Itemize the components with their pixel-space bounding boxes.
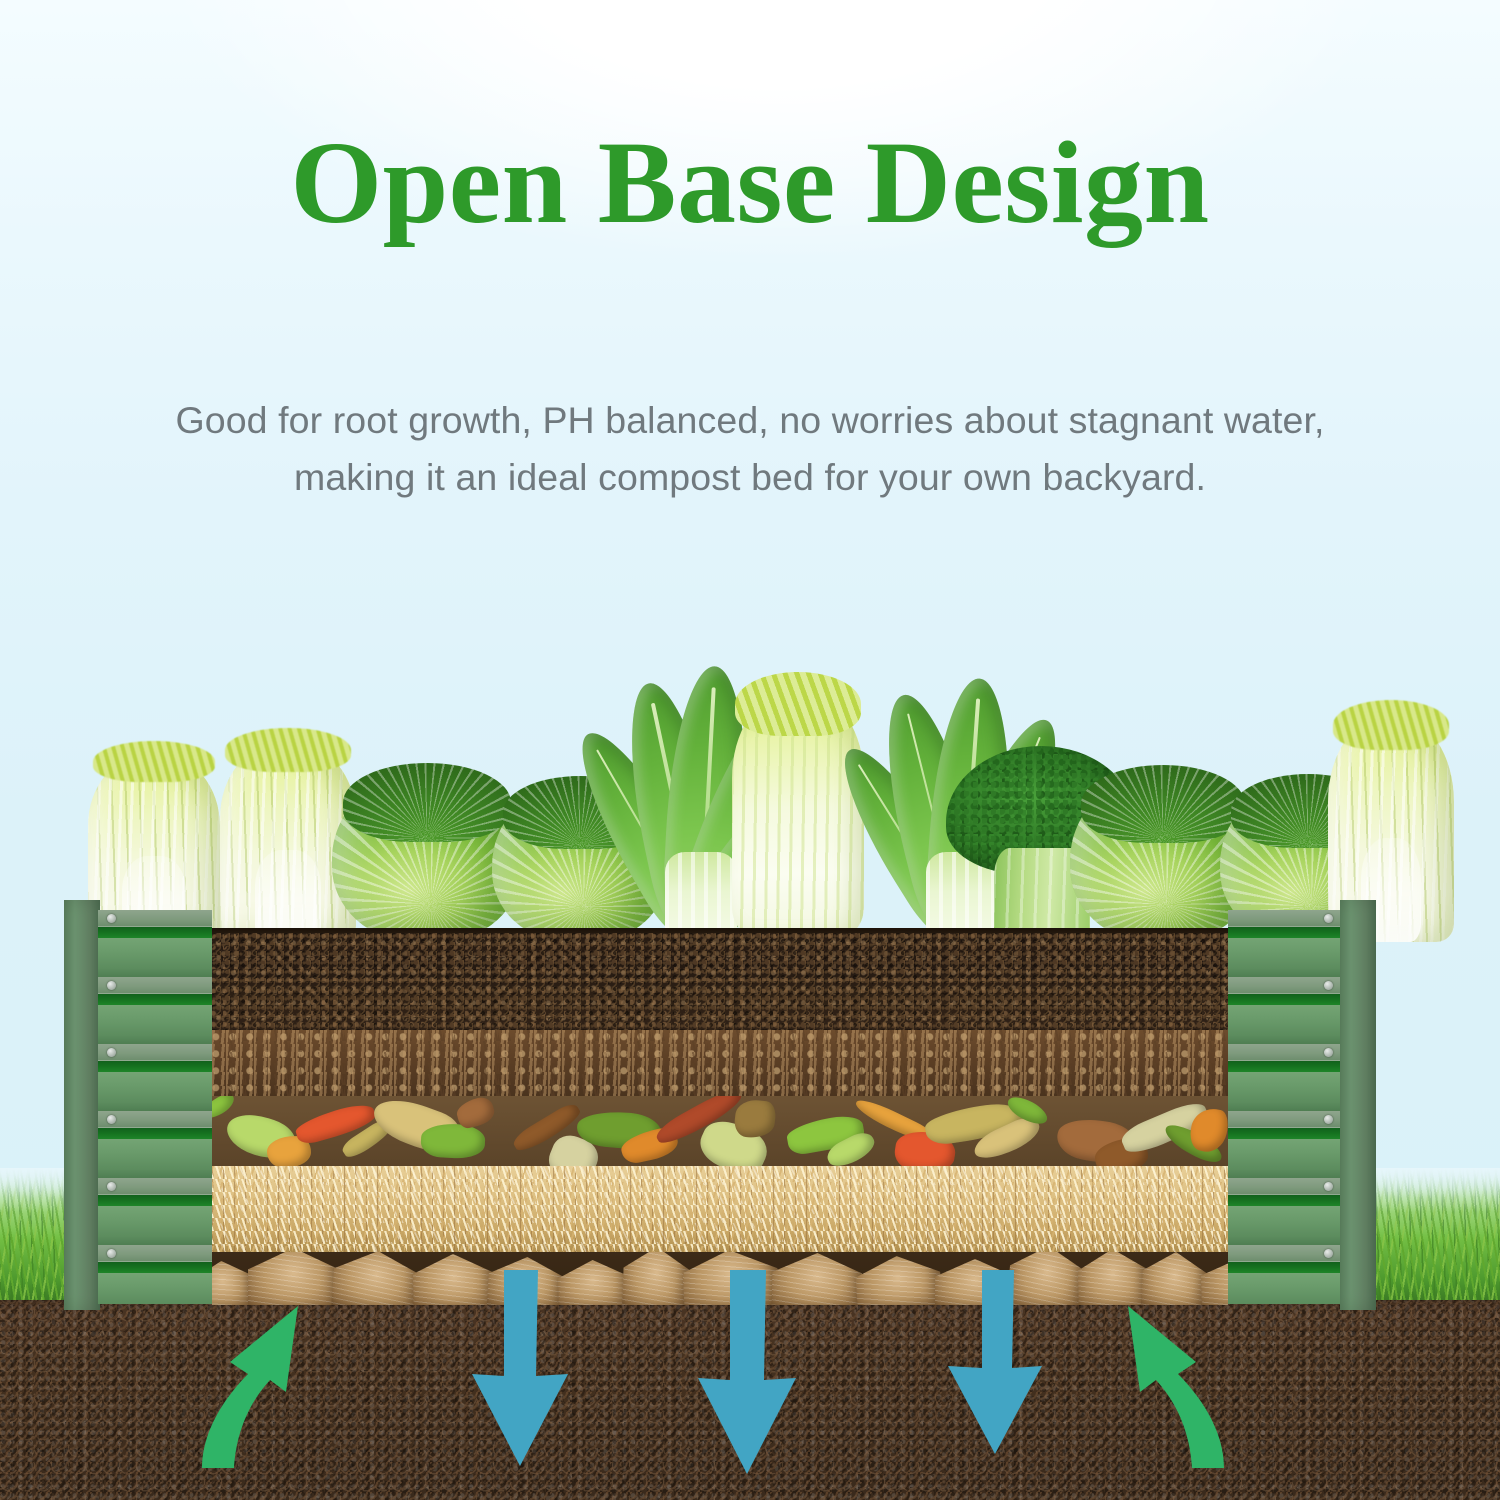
rib-face — [1228, 938, 1342, 977]
right-corner-post — [1228, 900, 1376, 1310]
vegetable-row — [60, 612, 1452, 942]
rib-face — [98, 1072, 212, 1111]
rib-face — [98, 1005, 212, 1044]
layer-straw — [212, 1166, 1228, 1252]
scrap-piece — [454, 1096, 496, 1130]
rib-shadow — [98, 1128, 212, 1139]
rib-face — [98, 1139, 212, 1178]
layer-topsoil — [212, 933, 1228, 1030]
panel-rib — [1228, 1044, 1342, 1111]
airflow-arrow-left — [186, 1282, 336, 1472]
screw-icon — [107, 914, 116, 923]
screw-icon — [107, 1249, 116, 1258]
corrugated-panel — [98, 910, 212, 1304]
page-subtitle: Good for root growth, PH balanced, no wo… — [55, 392, 1445, 506]
panel-rib — [98, 910, 212, 977]
panel-rib — [98, 977, 212, 1044]
rib-face — [1228, 1206, 1342, 1245]
subtitle-line-2: making it an ideal compost bed for your … — [55, 449, 1445, 506]
scrap-piece — [733, 1098, 777, 1141]
screw-icon — [1324, 1115, 1333, 1124]
drainage-arrow-1 — [464, 1270, 574, 1470]
rib-shadow — [1228, 927, 1342, 938]
panel-rib — [98, 1044, 212, 1111]
airflow-arrow-right — [1090, 1282, 1240, 1472]
rib-shadow — [98, 1195, 212, 1206]
bed-cross-section — [212, 933, 1228, 1305]
panel-rib — [1228, 910, 1342, 977]
rib-face — [98, 938, 212, 977]
left-corner-post — [64, 900, 212, 1310]
rib-shadow — [98, 994, 212, 1005]
corrugated-panel — [1228, 910, 1342, 1304]
drainage-arrow-2 — [690, 1270, 802, 1478]
post-side-flange — [64, 900, 100, 1310]
scrap-piece — [420, 1122, 486, 1159]
screw-icon — [107, 981, 116, 990]
panel-rib — [98, 1178, 212, 1245]
screw-icon — [107, 1115, 116, 1124]
screw-icon — [1324, 981, 1333, 990]
panel-rib — [1228, 1178, 1342, 1245]
screw-icon — [1324, 914, 1333, 923]
post-side-flange — [1340, 900, 1376, 1310]
panel-rib — [98, 1111, 212, 1178]
rib-face — [98, 1206, 212, 1245]
screw-icon — [1324, 1048, 1333, 1057]
rib-shadow — [1228, 1061, 1342, 1072]
rib-shadow — [1228, 1128, 1342, 1139]
screw-icon — [1324, 1249, 1333, 1258]
rib-face — [1228, 1139, 1342, 1178]
screw-icon — [107, 1182, 116, 1191]
rib-shadow — [98, 927, 212, 938]
screw-icon — [107, 1048, 116, 1057]
panel-rib — [1228, 977, 1342, 1044]
subtitle-line-1: Good for root growth, PH balanced, no wo… — [55, 392, 1445, 449]
screw-icon — [1324, 1182, 1333, 1191]
drainage-arrow-3 — [940, 1270, 1050, 1458]
rib-shadow — [1228, 1195, 1342, 1206]
layer-kitchen-scraps — [212, 1096, 1228, 1166]
layer-bark-mulch — [212, 1030, 1228, 1096]
rib-face — [1228, 1005, 1342, 1044]
panel-rib — [1228, 1111, 1342, 1178]
rib-shadow — [98, 1061, 212, 1072]
rib-shadow — [1228, 994, 1342, 1005]
page-title: Open Base Design — [0, 122, 1500, 245]
flow-arrow-group — [0, 1270, 1500, 1500]
infographic-canvas: Open Base Design Good for root growth, P… — [0, 0, 1500, 1500]
grass-haze — [1368, 1168, 1500, 1212]
rib-face — [1228, 1072, 1342, 1111]
